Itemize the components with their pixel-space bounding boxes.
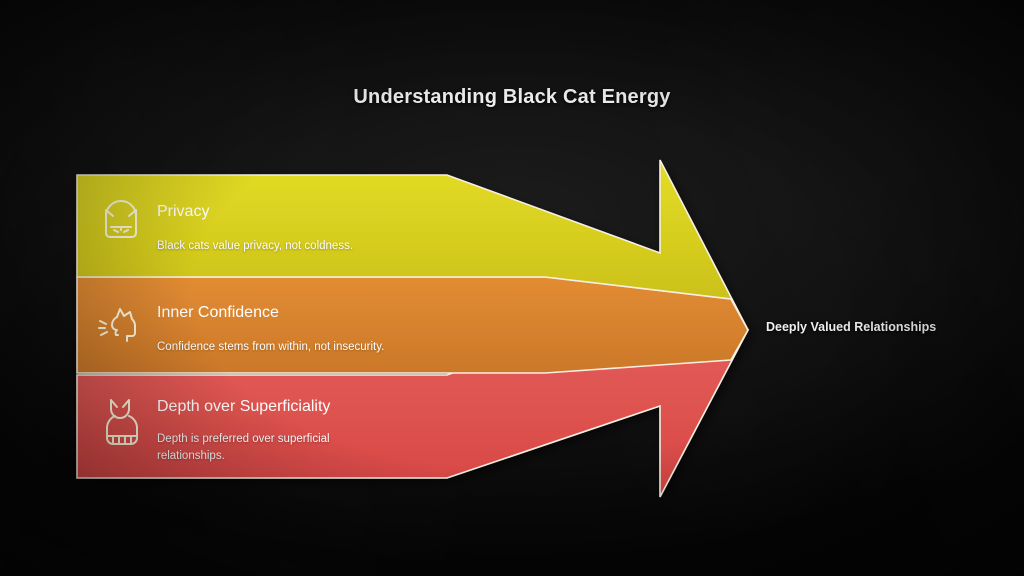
- band-description-depth: Depth is preferred over superficial rela…: [157, 431, 387, 464]
- arrow-tip-label: Deeply Valued Relationships: [766, 320, 936, 334]
- band-description-depth-line1: Depth is preferred over superficial: [157, 431, 387, 448]
- band-description-privacy: Black cats value privacy, not coldness.: [157, 238, 353, 255]
- band-description-depth-line2: relationships.: [157, 448, 387, 465]
- sitting-cat-icon: [100, 396, 144, 452]
- three-band-arrow-graphic: [0, 0, 1024, 576]
- cat-face-icon: [98, 199, 144, 245]
- slide-canvas: Understanding Black Cat Energy: [0, 0, 1024, 576]
- band-heading-depth: Depth over Superficiality: [157, 398, 330, 416]
- band-shape-confidence: [77, 277, 748, 373]
- cat-head-profile-icon: [96, 303, 146, 347]
- band-heading-confidence: Inner Confidence: [157, 304, 279, 322]
- band-description-confidence: Confidence stems from within, not insecu…: [157, 339, 384, 356]
- band-heading-privacy: Privacy: [157, 203, 209, 221]
